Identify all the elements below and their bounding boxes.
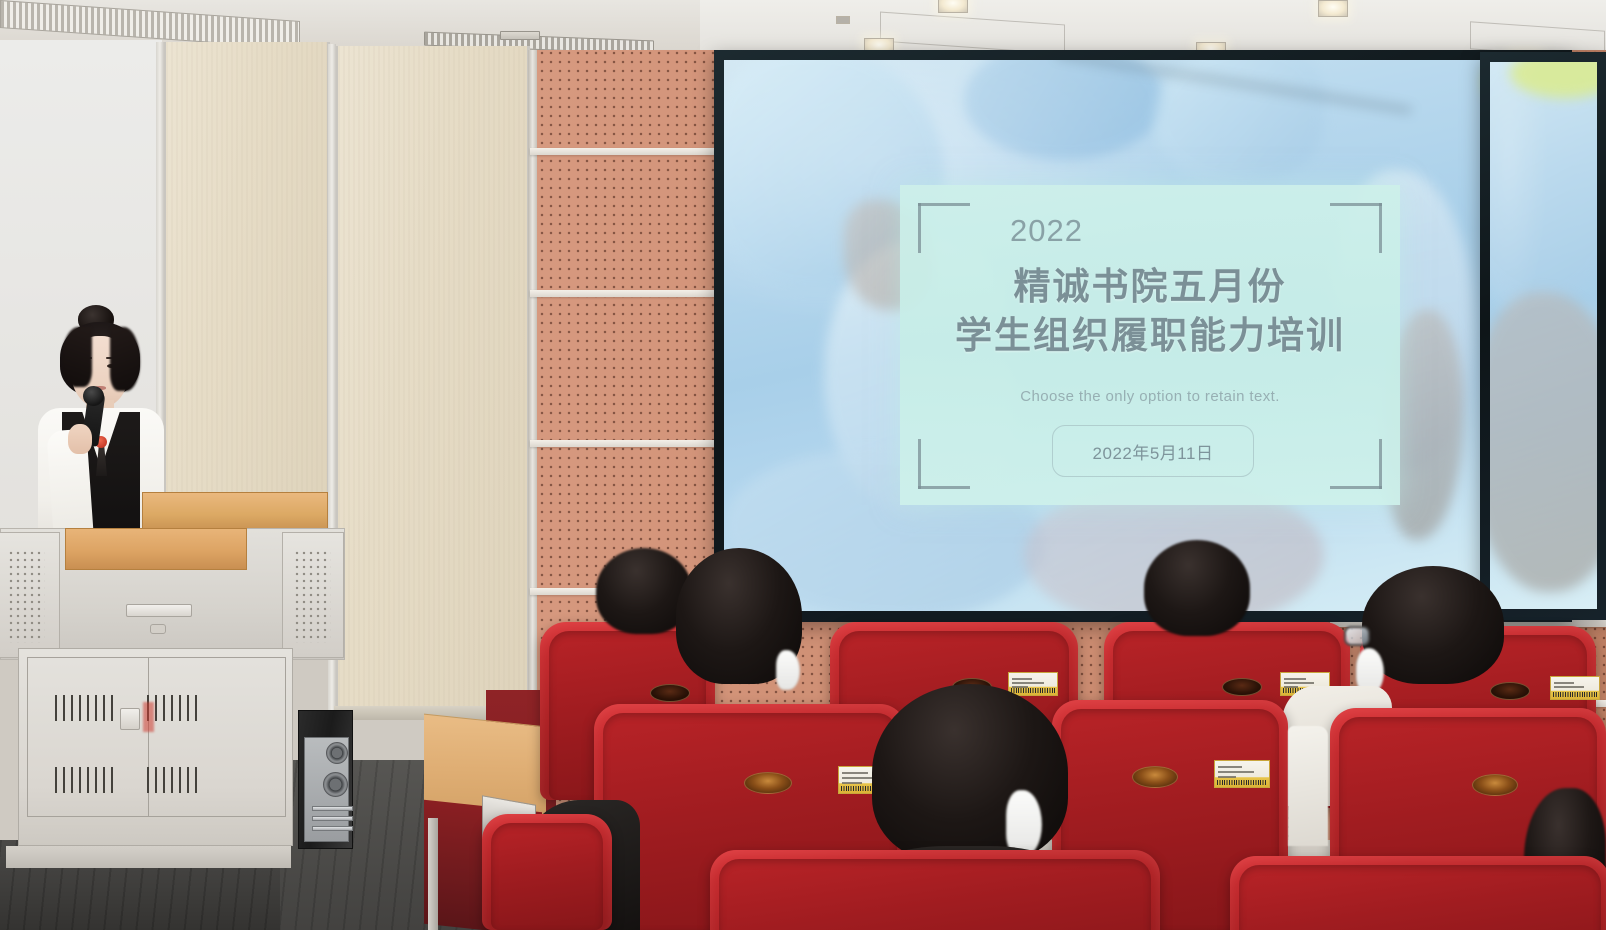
seat-row1-far-right-number-label	[1550, 676, 1600, 700]
slide-bg-brush-right-2	[1490, 292, 1597, 592]
projection-screen: 2022 精诚书院五月份 学生组织履职能力培训 Choose the only …	[724, 60, 1563, 611]
acoustic-wall-edge	[528, 50, 537, 750]
acoustic-divider-3	[530, 440, 730, 447]
acoustic-divider-2	[530, 290, 730, 297]
corner-bracket-bottom-right-icon	[1330, 439, 1382, 489]
lectern-speaker-left	[0, 532, 60, 658]
seat-row2-right-medallion-icon	[1132, 766, 1178, 788]
slide-title-line-2: 学生组织履职能力培训	[900, 312, 1400, 361]
wall-wood-panel-2	[334, 46, 530, 718]
seat-row2-right-number-label	[1214, 760, 1270, 788]
pc-rear-panel	[304, 737, 349, 842]
corner-bracket-top-right-icon	[1330, 203, 1382, 253]
student-4-glasses-icon	[1344, 626, 1370, 646]
acoustic-divider-1	[530, 148, 730, 155]
lectern-speaker-grill-right	[295, 551, 331, 643]
lectern-upper-wood-top	[142, 492, 328, 530]
slide-bg-brush-7	[1154, 60, 1324, 184]
cabinet-vent-bottom-left	[55, 767, 117, 793]
lectern-card-slot	[126, 604, 192, 617]
student-2-face-mask	[776, 650, 800, 690]
pc-fan-top-icon	[326, 742, 348, 764]
seat-row3-left-cushion	[719, 859, 1151, 930]
stage-step-edge-trim	[428, 818, 438, 930]
slide-bg-brush-right-1	[1490, 62, 1597, 302]
seat-row1-center-number-label	[1008, 672, 1058, 696]
air-vent-panel	[500, 31, 540, 40]
ceiling-downlight-2	[1318, 0, 1348, 17]
corner-bracket-bottom-left-icon	[918, 439, 970, 489]
cabinet-vent-top-right	[147, 695, 201, 721]
pc-expansion-slot-2	[312, 816, 353, 821]
white-bag-item	[1288, 726, 1328, 846]
cabinet-plinth	[6, 846, 291, 868]
wall-wood-panel-1	[162, 42, 330, 552]
slide-content-panel: 2022 精诚书院五月份 学生组织履职能力培训 Choose the only …	[900, 185, 1400, 505]
pc-fan-mid-icon	[323, 772, 348, 797]
slide-title-line-1: 精诚书院五月份	[900, 263, 1400, 312]
desktop-pc-tower	[298, 710, 353, 849]
lectern-speaker-right	[282, 532, 344, 658]
ceiling-downlight-1	[938, 0, 968, 13]
cabinet-vent-bottom-right	[147, 767, 201, 793]
student-3-head	[1144, 540, 1250, 636]
corner-bracket-top-left-icon	[918, 203, 970, 253]
seat-row3-right-cushion	[1239, 865, 1601, 930]
slide-title: 精诚书院五月份 学生组织履职能力培训	[900, 263, 1400, 361]
seat-row3-far-left[interactable]	[482, 814, 612, 930]
seat-row3-right[interactable]	[1230, 856, 1606, 930]
pc-expansion-slot-3	[312, 826, 353, 831]
cabinet-vent-top-left	[55, 695, 117, 721]
lecture-hall-photo: 2022 精诚书院五月份 学生组织履职能力培训 Choose the only …	[0, 0, 1606, 930]
projection-screen-frame: 2022 精诚书院五月份 学生组织履职能力培训 Choose the only …	[714, 50, 1572, 622]
equipment-cabinet[interactable]	[18, 648, 293, 846]
seat-row2-far-right-medallion-icon	[1472, 774, 1518, 796]
seat-row1-right-medallion-icon	[1222, 678, 1262, 696]
projection-screen-right-extension	[1480, 52, 1606, 620]
seat-row1-far-right-medallion-icon	[1490, 682, 1530, 700]
ceiling-smoke-detector	[836, 16, 850, 24]
lectern-knob	[150, 624, 166, 634]
pc-expansion-slot-1	[312, 806, 353, 811]
cabinet-warning-sticker	[143, 702, 154, 732]
slide-date-box: 2022年5月11日	[1052, 425, 1254, 477]
seat-row3-left[interactable]	[710, 850, 1160, 930]
slide-bg-brush-6	[964, 60, 1164, 160]
projection-screen-right-surface	[1490, 62, 1597, 609]
seat-row1-left-medallion-icon	[650, 684, 690, 702]
equipment-cabinet-door-split	[148, 657, 149, 817]
slide-year: 2022	[1010, 213, 1083, 249]
seat-row2-left-medallion-icon	[744, 772, 792, 794]
presenter-hand	[68, 424, 92, 454]
seat-row3-far-left-cushion	[491, 823, 603, 930]
lectern-speaker-grill-left	[9, 551, 45, 643]
slide-date: 2022年5月11日	[1093, 439, 1214, 464]
cabinet-handle[interactable]	[120, 708, 140, 730]
presenter-hair-strand-left	[62, 327, 92, 387]
student-5-face-mask	[1006, 790, 1042, 856]
lectern-desktop-wood	[65, 528, 247, 570]
slide-subtitle: Choose the only option to retain text.	[900, 388, 1400, 405]
equipment-cabinet-door-panel	[27, 657, 286, 817]
